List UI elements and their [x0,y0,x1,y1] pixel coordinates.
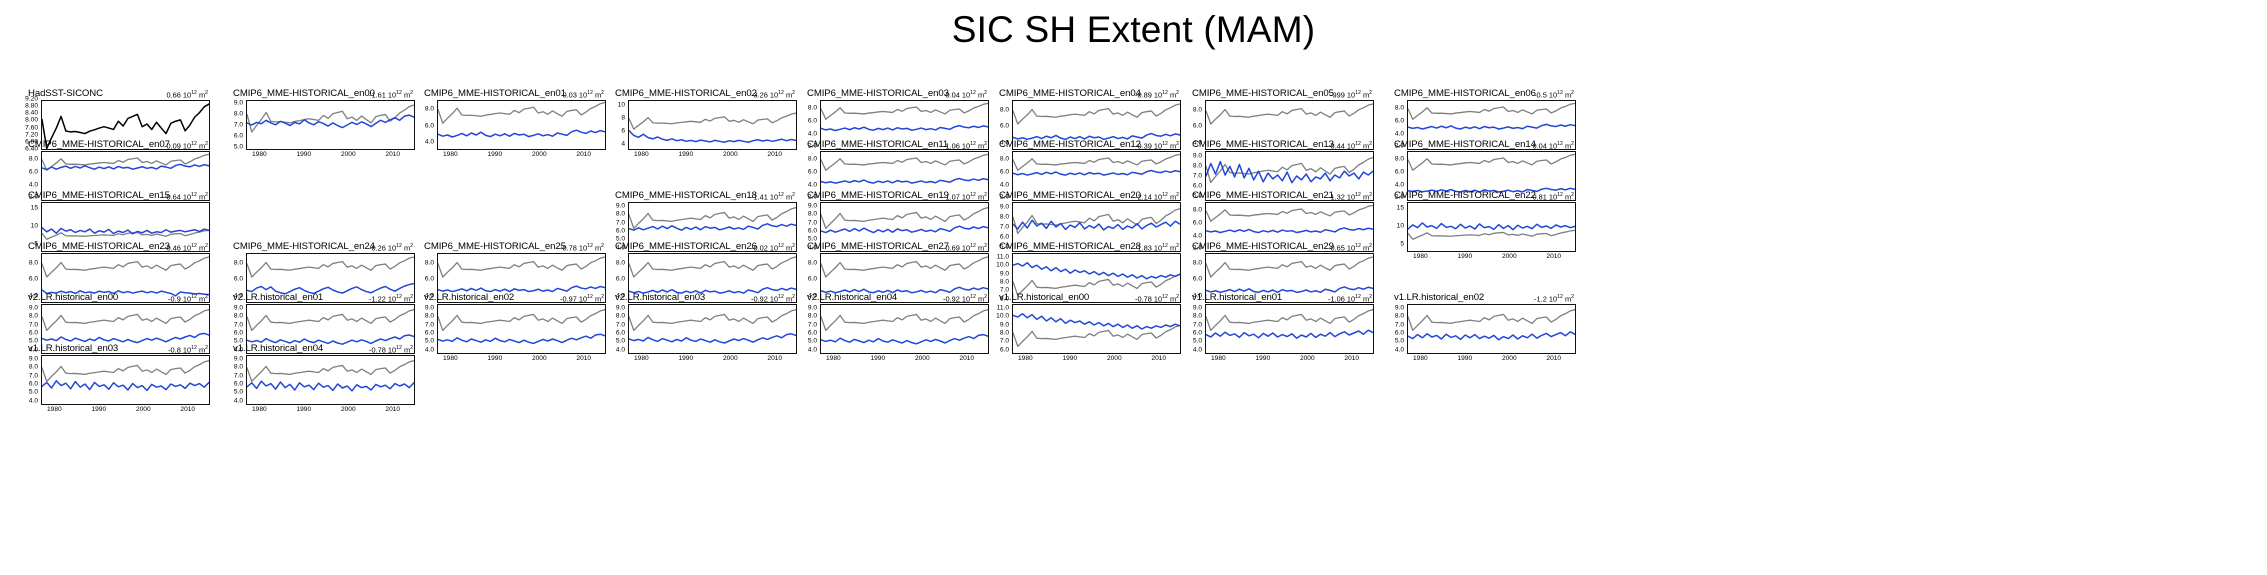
observation-curve [42,361,209,382]
y-tick-label: 6.0 [234,331,243,338]
x-tick-label: 1980 [1413,354,1428,363]
y-tick-label: 9.0 [808,306,817,313]
x-tick-label: 1990 [91,405,106,414]
observation-curve [247,361,414,382]
panel-title: CMIP6_MME-HISTORICAL_en03 [807,88,949,99]
y-tick-label: 9.0 [1000,271,1009,278]
y-tick-label: 6.0 [808,331,817,338]
panel-cmip6-mme-historical-en02: CMIP6_MME-HISTORICAL_en02-3.26 1012 m210… [601,88,797,150]
x-tick-label: 1980 [47,405,62,414]
y-tick-label: 9.0 [425,306,434,313]
y-tick-label: 6.0 [1193,220,1202,227]
observation-curve [1013,209,1180,234]
model-curve [1408,332,1575,340]
y-tick-label: 7.0 [808,322,817,329]
y-tick-label: 7.0 [616,322,625,329]
y-tick-label: 7.0 [425,322,434,329]
panel-title: v1.LR.historical_en03 [28,343,118,354]
y-tick-label: 6.0 [425,331,434,338]
plot-area: 9.08.07.06.05.04.0 [410,304,606,354]
model-curve [438,334,605,343]
panel-header: CMIP6_MME-HISTORICAL_en140.04 1012 m2 [1380,139,1576,151]
panel-header: v2.LR.historical_en00-0.9 1012 m2 [14,292,210,304]
y-tick-label: 7.0 [234,373,243,380]
observation-curve [1206,104,1373,124]
observation-curve [1408,310,1575,331]
panel-metric-value: -0.92 1012 m2 [943,292,987,304]
panel-header: CMIP6_MME-HISTORICAL_en19-1.07 1012 m2 [793,190,989,202]
y-tick-label: 8.0 [616,261,625,268]
y-tick-label: 7.0 [29,373,38,380]
y-tick-label: 6.0 [1395,331,1404,338]
x-tick-label: 1980 [826,354,841,363]
y-tick-label: 8.0 [808,157,817,164]
y-tick-label: 6.0 [808,169,817,176]
panel-header: CMIP6_MME-HISTORICAL_en26-0.02 1012 m2 [601,241,797,253]
panel-metric-value: -0.78 1012 m2 [1135,292,1179,304]
y-tick-label: 8.0 [234,365,243,372]
y-tick-label: 9.0 [1000,205,1009,212]
plot-area: 11.010.09.08.07.06.0 [985,304,1181,354]
panel-header: CMIP6_MME-HISTORICAL_en22-0.81 1012 m2 [1380,190,1576,202]
y-axis: 11.010.09.08.07.06.0 [985,304,1011,354]
panel-header: CMIP6_MME-HISTORICAL_en06-0.5 1012 m2 [1380,88,1576,100]
plot-area: 9.08.07.06.05.04.0 [14,355,210,405]
y-axis: 8.06.04.0 [410,100,436,150]
x-tick-label: 2010 [959,354,974,363]
panel-v1-lr-historical-en01: v1.LR.historical_en01-1.06 1012 m29.08.0… [1178,292,1374,354]
y-tick-label: 10.0 [996,263,1009,270]
panel-title: v2.LR.historical_en03 [615,292,705,303]
panel-v1-lr-historical-en03: v1.LR.historical_en03-0.8 1012 m29.08.07… [14,343,210,405]
panel-title: CMIP6_MME-HISTORICAL_en26 [615,241,757,252]
y-tick-label: 8.0 [29,261,38,268]
observation-curve [1206,310,1373,331]
panel-title: HadSST-SICONC [28,88,103,99]
panel-header: CMIP6_MME-HISTORICAL_en27-0.69 1012 m2 [793,241,989,253]
model-curve [821,178,988,183]
panel-v2-lr-historical-en03: v2.LR.historical_en03-0.92 1012 m29.08.0… [601,292,797,354]
observation-curve [821,208,988,229]
panel-metric-value: -0.44 1012 m2 [1328,139,1372,151]
x-tick-label: 2000 [723,150,738,159]
model-curve [42,333,209,342]
y-tick-label: 8.0 [425,261,434,268]
x-tick-label: 1990 [678,150,693,159]
panel-metric-value: -1.22 1012 m2 [369,292,413,304]
y-tick-label: 4.0 [808,131,817,138]
y-tick-label: 11.0 [997,255,1009,262]
observation-curve [438,257,605,277]
panel-metric-value: -0.89 1012 m2 [1135,88,1179,100]
y-tick-label: 7.0 [1395,322,1404,329]
panel-metric-value: -1.32 1012 m2 [1328,190,1372,202]
y-tick-label: 6.0 [808,229,817,236]
panel-v2-lr-historical-en04: v2.LR.historical_en04-0.92 1012 m29.08.0… [793,292,989,354]
x-tick-label: 2000 [1502,354,1517,363]
y-tick-label: 8.0 [616,314,625,321]
y-tick-label: 4 [621,142,625,149]
y-tick-label: 6.0 [1193,277,1202,284]
panel-metric-value: -0.02 1012 m2 [751,241,795,253]
panel-title: CMIP6_MME-HISTORICAL_en12 [999,139,1141,150]
panel-title: CMIP6_MME-HISTORICAL_en19 [807,190,949,201]
panel-header: CMIP6_MME-HISTORICAL_en23-0.46 1012 m2 [14,241,210,253]
panel-metric-value: -0.69 1012 m2 [943,241,987,253]
model-curve [1206,330,1373,338]
panel-metric-value: -0.9 1012 m2 [168,292,208,304]
y-tick-label: 6.0 [29,331,38,338]
y-tick-label: 7.0 [234,322,243,329]
y-tick-label: 9.0 [234,101,243,108]
y-tick-label: 9.0 [616,306,625,313]
y-axis: 9.08.07.06.05.0 [219,100,245,150]
panel-title: CMIP6_MME-HISTORICAL_en15 [28,190,170,201]
observation-curve [821,154,988,170]
y-tick-label: 9.0 [234,306,243,313]
panel-header: CMIP6_MME-HISTORICAL_en07-0.09 1012 m2 [14,139,210,151]
y-tick-label: 6 [621,129,625,136]
y-tick-label: 8.0 [234,261,243,268]
plot-frame [246,355,415,405]
panel-cmip6-mme-historical-en01: CMIP6_MME-HISTORICAL_en010.03 1012 m28.0… [410,88,606,150]
y-tick-label: 8.0 [1000,108,1009,115]
panel-title: v2.LR.historical_en04 [807,292,897,303]
panel-title: CMIP6_MME-HISTORICAL_en13 [1192,139,1334,150]
x-tick-label: 2000 [1107,354,1122,363]
x-tick-label: 2000 [532,354,547,363]
plot-frame [41,355,210,405]
y-tick-label: 7.0 [808,220,817,227]
y-axis: 9.08.07.06.05.04.0 [793,304,819,354]
panel-metric-value: -0.65 1012 m2 [1328,241,1372,253]
panel-title: CMIP6_MME-HISTORICAL_en05 [1192,88,1334,99]
observation-curve [247,105,414,132]
model-curve [629,334,796,343]
y-tick-label: 9.0 [1395,306,1404,313]
observation-curve [821,103,988,119]
y-tick-label: 4.0 [1395,347,1404,354]
y-tick-label: 4.0 [29,398,38,405]
model-curve [629,224,796,230]
x-axis: 1980199020002010 [246,405,415,414]
y-tick-label: 5.0 [234,390,243,397]
x-tick-label: 1980 [443,354,458,363]
x-axis: 1980199020002010 [1407,252,1576,261]
y-tick-label: 8.0 [1000,331,1009,338]
x-tick-label: 1990 [870,354,885,363]
x-tick-label: 1990 [1457,252,1472,261]
panel-metric-value: 0.04 1012 m2 [945,88,987,100]
panel-title: CMIP6_MME-HISTORICAL_en00 [233,88,375,99]
model-curve [629,131,796,143]
panel-header: CMIP6_MME-HISTORICAL_en21-1.32 1012 m2 [1178,190,1374,202]
model-curve [821,126,988,131]
y-tick-label: 7.0 [1000,339,1009,346]
y-tick-label: 9.0 [616,204,625,211]
y-tick-label: 8.0 [1000,280,1009,287]
y-tick-label: 11.0 [997,306,1009,313]
y-tick-label: 6.0 [234,382,243,389]
y-tick-label: 4.0 [234,398,243,405]
x-tick-label: 1980 [634,150,649,159]
x-tick-label: 1980 [1211,354,1226,363]
panel-title: CMIP6_MME-HISTORICAL_en11 [807,139,948,150]
panel-title: CMIP6_MME-HISTORICAL_en23 [28,241,170,252]
panel-header: CMIP6_MME-HISTORICAL_en030.04 1012 m2 [793,88,989,100]
y-axis: 10864 [601,100,627,150]
plot-area: 9.08.07.06.05.0 [219,100,415,150]
panel-header: v1.LR.historical_en00-0.78 1012 m2 [985,292,1181,304]
x-tick-label: 2010 [1151,354,1166,363]
x-tick-label: 1990 [296,405,311,414]
x-tick-label: 2000 [136,405,151,414]
panel-header: v2.LR.historical_en01-1.22 1012 m2 [219,292,415,304]
panel-metric-value: -0.5 1012 m2 [1534,88,1574,100]
panel-header: CMIP6_MME-HISTORICAL_en05-999 1012 m2 [1178,88,1374,100]
panel-header: CMIP6_MME-HISTORICAL_en15-0.64 1012 m2 [14,190,210,202]
x-tick-label: 2000 [341,150,356,159]
panel-metric-value: -0.97 1012 m2 [560,292,604,304]
panel-title: CMIP6_MME-HISTORICAL_en06 [1394,88,1536,99]
panel-header: v1.LR.historical_en01-1.06 1012 m2 [1178,292,1374,304]
observation-curve [438,102,605,123]
x-axis: 1980199020002010 [628,150,797,159]
panel-metric-value: -0.78 1012 m2 [560,241,604,253]
y-tick-label: 10 [1397,224,1404,231]
y-tick-label: 9.0 [1000,322,1009,329]
x-axis: 1980199020002010 [246,150,415,159]
observation-curve [42,257,209,277]
y-tick-label: 7.0 [616,220,625,227]
plot-frame [437,100,606,150]
panel-header: HadSST-SICONC0.66 1012 m2 [14,88,210,100]
y-axis: 9.08.07.06.05.04.0 [219,355,245,405]
observation-curve [1013,104,1180,124]
observation-curve [1408,230,1575,239]
y-tick-label: 6.0 [425,123,434,130]
panel-title: CMIP6_MME-HISTORICAL_en01 [424,88,566,99]
panel-title: CMIP6_MME-HISTORICAL_en04 [999,88,1141,99]
panel-v2-lr-historical-en02: v2.LR.historical_en02-0.97 1012 m29.08.0… [410,292,606,354]
y-tick-label: 7.0 [29,322,38,329]
panel-metric-value: -1.07 1012 m2 [943,190,987,202]
x-tick-label: 2000 [723,354,738,363]
panel-title: CMIP6_MME-HISTORICAL_en22 [1394,190,1536,201]
y-axis: 9.08.07.06.05.04.0 [601,304,627,354]
y-tick-label: 6.0 [616,229,625,236]
observation-curve [629,310,796,331]
model-curve [821,226,988,232]
panel-title: v2.LR.historical_en02 [424,292,514,303]
panel-title: CMIP6_MME-HISTORICAL_en18 [615,190,757,201]
y-tick-label: 6.0 [1193,331,1202,338]
y-tick-label: 8.0 [29,314,38,321]
panel-header: CMIP6_MME-HISTORICAL_en11-1.06 1012 m2 [793,139,989,151]
y-tick-label: 8.0 [234,112,243,119]
model-curve [1408,124,1575,129]
y-tick-label: 5.0 [1193,339,1202,346]
x-tick-label: 2010 [576,354,591,363]
y-tick-label: 9.0 [234,357,243,364]
y-tick-label: 9.0 [808,204,817,211]
observation-curve [1206,205,1373,221]
model-curve [42,228,209,234]
panel-header: v2.LR.historical_en03-0.92 1012 m2 [601,292,797,304]
y-tick-label: 8.0 [616,212,625,219]
plot-frame [628,100,797,150]
y-tick-label: 8.0 [1395,106,1404,113]
panel-header: v1.LR.historical_en04-0.78 1012 m2 [219,343,415,355]
y-tick-label: 6.0 [234,277,243,284]
panel-cmip6-mme-historical-en00: CMIP6_MME-HISTORICAL_en00-1.61 1012 m29.… [219,88,415,150]
y-tick-label: 4.0 [425,347,434,354]
x-tick-label: 2000 [532,150,547,159]
y-tick-label: 8.0 [1193,261,1202,268]
y-tick-label: 8.0 [1000,215,1009,222]
x-tick-label: 1980 [1018,354,1033,363]
panel-v1-lr-historical-en02: v1.LR.historical_en02-1.2 1012 m29.08.07… [1380,292,1576,354]
y-tick-label: 8.0 [1395,157,1404,164]
x-tick-label: 1980 [634,354,649,363]
x-tick-label: 1980 [443,150,458,159]
panel-title: CMIP6_MME-HISTORICAL_en14 [1394,139,1536,150]
x-axis: 1980199020002010 [628,354,797,363]
observation-curve [1206,257,1373,277]
y-tick-label: 6.0 [1000,347,1009,354]
y-tick-label: 6.0 [616,331,625,338]
plot-frame [1407,304,1576,354]
y-tick-label: 6.0 [1395,118,1404,125]
y-tick-label: 6.0 [1193,124,1202,131]
plot-area: 15105 [1380,202,1576,252]
observation-curve [1408,154,1575,170]
panel-header: CMIP6_MME-HISTORICAL_en24-0.26 1012 m2 [219,241,415,253]
panel-title: CMIP6_MME-HISTORICAL_en02 [615,88,757,99]
plot-frame [1407,202,1576,252]
panel-metric-value: -1.2 1012 m2 [1534,292,1574,304]
y-tick-label: 5.0 [1395,339,1404,346]
x-tick-label: 2000 [915,354,930,363]
y-tick-label: 8.0 [425,314,434,321]
y-tick-label: 15 [1397,206,1404,213]
y-tick-label: 10.0 [996,314,1009,321]
panel-metric-value: -0.26 1012 m2 [369,241,413,253]
model-curve [438,130,605,137]
panel-header: v1.LR.historical_en03-0.8 1012 m2 [14,343,210,355]
plot-area: 9.08.07.06.05.04.0 [1178,304,1374,354]
x-axis: 1980199020002010 [1205,354,1374,363]
panel-metric-value: -0.46 1012 m2 [164,241,208,253]
y-tick-label: 5 [1400,242,1404,249]
y-tick-label: 4.0 [1193,233,1202,240]
y-tick-label: 10 [618,103,625,110]
panel-metric-value: -0.09 1012 m2 [164,139,208,151]
model-curve [1013,314,1180,329]
y-tick-label: 4.0 [1395,182,1404,189]
panel-metric-value: -0.8 1012 m2 [168,343,208,355]
panel-cmip6-mme-historical-en22: CMIP6_MME-HISTORICAL_en22-0.81 1012 m215… [1380,190,1576,252]
y-tick-label: 8.0 [29,365,38,372]
y-axis: 9.08.07.06.05.04.0 [1380,304,1406,354]
y-tick-label: 8.0 [808,261,817,268]
y-tick-label: 4.0 [425,140,434,147]
observation-curve [247,257,414,277]
y-tick-label: 6.0 [616,277,625,284]
y-tick-label: 6.0 [808,118,817,125]
y-tick-label: 9.0 [29,306,38,313]
y-axis: 9.08.07.06.05.04.0 [14,355,40,405]
observation-curve [821,257,988,277]
panel-metric-value: -0.39 1012 m2 [1135,139,1179,151]
x-tick-label: 2010 [385,150,400,159]
panel-header: CMIP6_MME-HISTORICAL_en010.03 1012 m2 [410,88,606,100]
plot-frame [1205,304,1374,354]
panel-header: CMIP6_MME-HISTORICAL_en28-1.83 1012 m2 [985,241,1181,253]
y-tick-label: 5.0 [234,145,243,152]
x-tick-label: 2000 [1300,354,1315,363]
panel-header: CMIP6_MME-HISTORICAL_en20-2.14 1012 m2 [985,190,1181,202]
panel-v1-lr-historical-en00: v1.LR.historical_en00-0.78 1012 m211.010… [985,292,1181,354]
y-tick-label: 4.0 [1000,182,1009,189]
y-tick-label: 6.0 [808,277,817,284]
y-tick-label: 9.0 [29,357,38,364]
panel-title: CMIP6_MME-HISTORICAL_en21 [1192,190,1334,201]
panel-metric-value: -1.61 1012 m2 [369,88,413,100]
plot-area: 10864 [601,100,797,150]
y-tick-label: 10 [31,224,38,231]
panel-metric-value: -1.06 1012 m2 [943,139,987,151]
y-tick-label: 7.0 [1193,322,1202,329]
y-tick-label: 7.0 [234,123,243,130]
panel-header: CMIP6_MME-HISTORICAL_en12-0.39 1012 m2 [985,139,1181,151]
x-tick-label: 2000 [341,405,356,414]
y-tick-label: 6.0 [1000,124,1009,131]
x-tick-label: 2010 [576,150,591,159]
y-tick-label: 9.0 [1193,306,1202,313]
panel-metric-value: 0.03 1012 m2 [562,88,604,100]
panel-title: v1.LR.historical_en04 [233,343,323,354]
panel-title: CMIP6_MME-HISTORICAL_en20 [999,190,1141,201]
y-tick-label: 4.0 [616,347,625,354]
plot-frame [1012,304,1181,354]
panel-header: v2.LR.historical_en02-0.97 1012 m2 [410,292,606,304]
x-tick-label: 1990 [1457,354,1472,363]
x-tick-label: 2010 [767,354,782,363]
panel-metric-value: -1.06 1012 m2 [1328,292,1372,304]
x-tick-label: 2010 [767,150,782,159]
y-tick-label: 8.0 [808,106,817,113]
panel-title: v1.LR.historical_en01 [1192,292,1282,303]
panel-metric-value: -3.26 1012 m2 [751,88,795,100]
x-tick-label: 2000 [1502,252,1517,261]
y-tick-label: 5.0 [425,339,434,346]
panel-metric-value: 0.66 1012 m2 [166,88,208,100]
panel-title: v1.LR.historical_en02 [1394,292,1484,303]
y-tick-label: 8.0 [808,212,817,219]
panel-title: CMIP6_MME-HISTORICAL_en28 [999,241,1141,252]
x-tick-label: 2010 [180,405,195,414]
y-tick-label: 6.0 [29,382,38,389]
panel-v1-lr-historical-en04: v1.LR.historical_en04-0.78 1012 m29.08.0… [219,343,415,405]
observation-curve [42,310,209,331]
observation-curve [1013,326,1180,347]
x-axis: 1980199020002010 [1012,354,1181,363]
y-tick-label: 6.0 [234,134,243,141]
panel-header: v1.LR.historical_en02-1.2 1012 m2 [1380,292,1576,304]
y-tick-label: 8 [621,116,625,123]
x-tick-label: 1980 [1413,252,1428,261]
